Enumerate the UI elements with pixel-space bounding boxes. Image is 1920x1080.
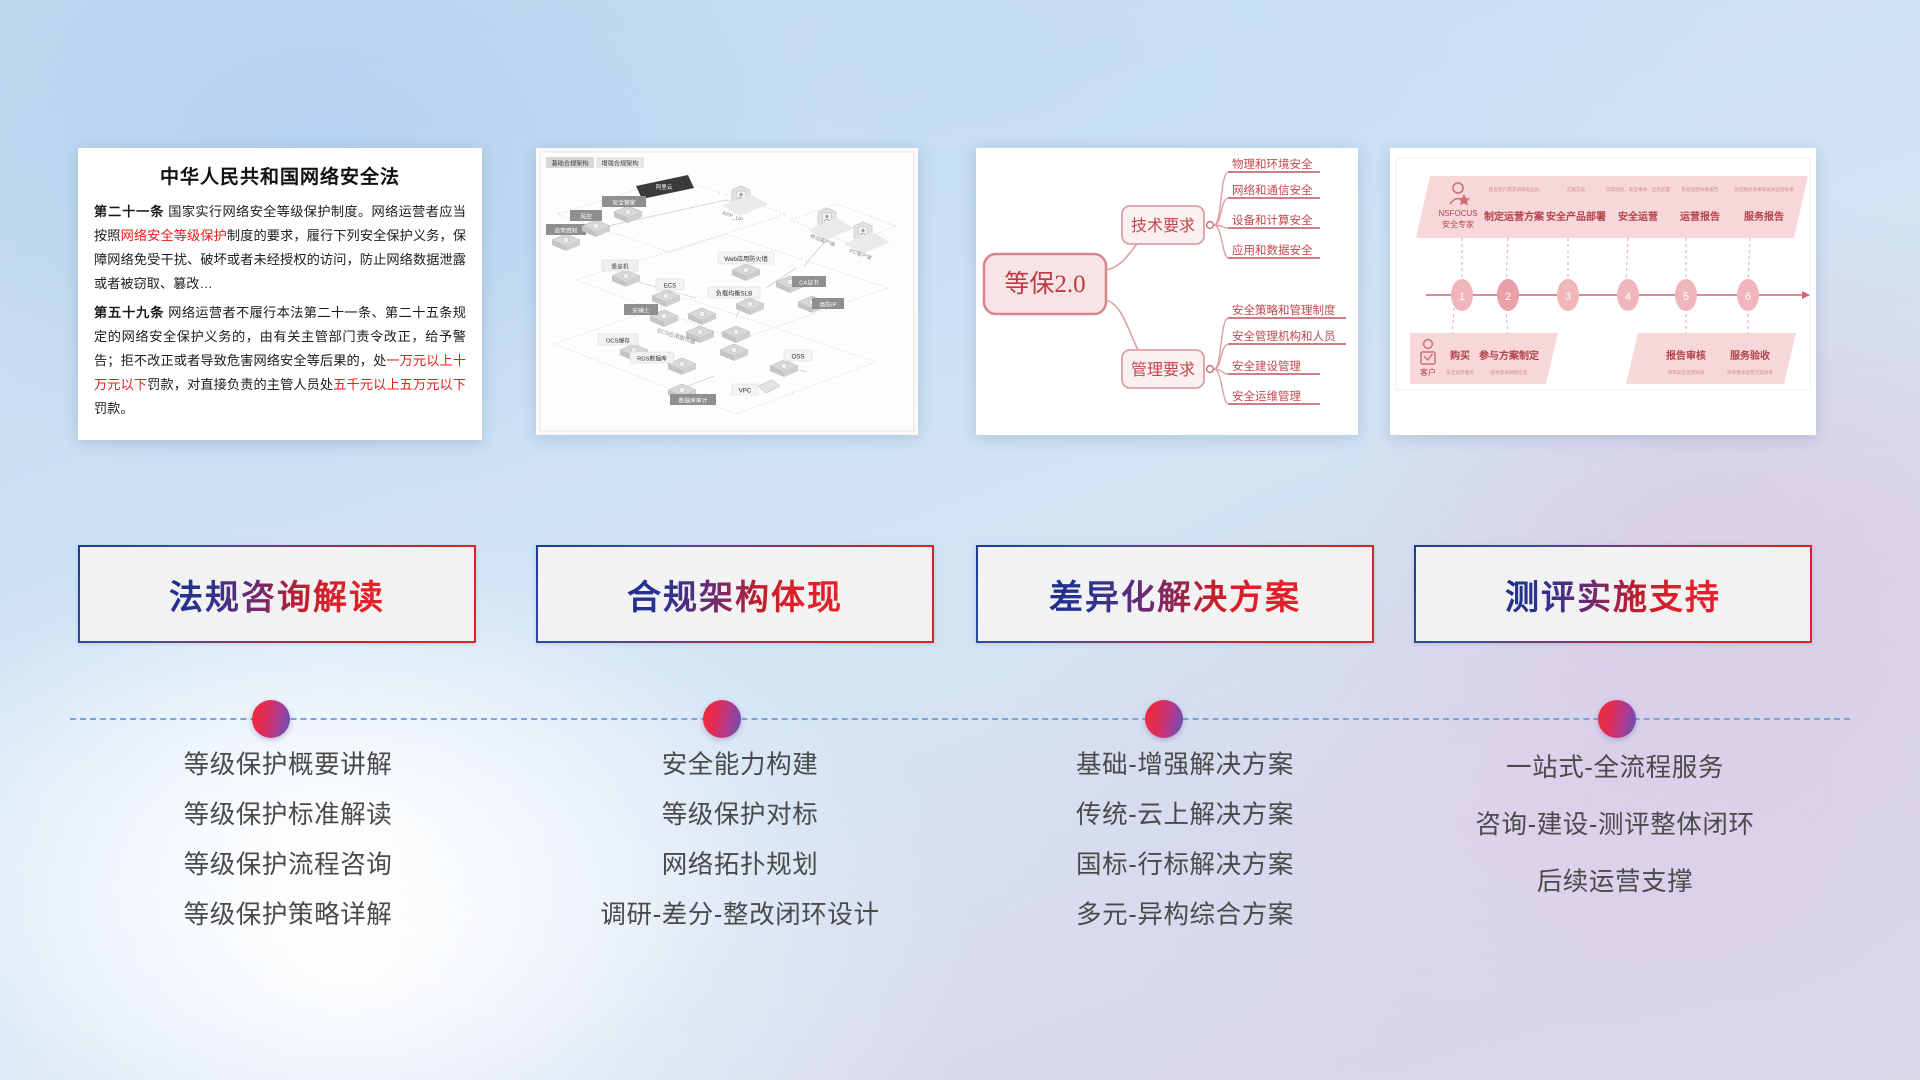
headline-2[interactable]: 合规架构体现: [536, 545, 934, 643]
svg-text:评审整体运营方案效果: 评审整体运营方案效果: [1727, 369, 1773, 376]
svg-text:运营报告: 运营报告: [1680, 210, 1720, 223]
svg-text:1: 1: [1459, 291, 1465, 303]
svg-text:服务报告: 服务报告: [1744, 210, 1784, 223]
headline-row: 法规咨询解读 合规架构体现 差异化解决方案 测评实施支持: [0, 545, 1920, 645]
article-59-run-3: 五千元以上五万元以下: [333, 377, 466, 392]
svg-text:VPC: VPC: [739, 388, 752, 395]
svg-text:堡垒机: 堡垒机: [611, 263, 629, 271]
law-document: 中华人民共和国网络安全法 第二十一条 国家实行网络安全等级保护制度。网络运营者应…: [78, 148, 482, 434]
svg-text:5: 5: [1683, 291, 1689, 303]
svg-text:评审安全运营效果: 评审安全运营效果: [1668, 369, 1705, 376]
svg-text:数据库审计: 数据库审计: [679, 397, 708, 405]
list-item: 基础-增强解决方案: [975, 740, 1395, 790]
svg-text:高防IP: 高防IP: [819, 301, 836, 309]
law-article-21: 第二十一条 国家实行网络安全等级保护制度。网络运营者应当按照网络安全等级保护制度…: [94, 200, 466, 296]
article-21-run-1: 网络安全等级保护: [121, 228, 227, 243]
svg-text:实施方案: 实施方案: [1567, 186, 1586, 193]
list-item: 调研-差分-整改闭环设计: [530, 890, 950, 940]
list-item: 安全能力构建: [530, 740, 950, 790]
svg-text:日常巡检、安全事件、应急处置: 日常巡检、安全事件、应急处置: [1606, 186, 1671, 193]
list-item: 等级保护标准解读: [78, 790, 498, 840]
svg-text:阶段运营效果报告: 阶段运营效果报告: [1682, 186, 1719, 193]
svg-text:风控: 风控: [580, 213, 592, 221]
svg-text:NSFOCUS: NSFOCUS: [1438, 209, 1477, 218]
article-number-21: 第二十一条: [94, 204, 164, 219]
service-timeline-card[interactable]: NSFOCUS 安全专家 结合客户需求调研后出具 制定运营方案 实施方案 安全产…: [1390, 148, 1816, 435]
svg-text:安骑士: 安骑士: [632, 307, 650, 315]
svg-text:物理和环境安全: 物理和环境安全: [1232, 157, 1313, 171]
feature-columns: 等级保护概要讲解 等级保护标准解读 等级保护流程咨询 等级保护策略详解 安全能力…: [0, 740, 1920, 980]
list-item: 等级保护策略详解: [78, 890, 498, 940]
column-4: 一站式-全流程服务 咨询-建设-测评整体闭环 后续运营支撑: [1400, 740, 1830, 911]
cybersecurity-law-card[interactable]: 中华人民共和国网络安全法 第二十一条 国家实行网络安全等级保护制度。网络运营者应…: [78, 148, 482, 440]
timeline-dot-2[interactable]: [703, 700, 741, 738]
svg-text:报告审核: 报告审核: [1666, 349, 1706, 362]
svg-text:3: 3: [1565, 291, 1571, 303]
headline-4-label: 测评实施支持: [1505, 570, 1721, 619]
list-item: 咨询-建设-测评整体闭环: [1400, 797, 1830, 854]
svg-text:2: 2: [1505, 291, 1511, 303]
svg-text:安全产品部署: 安全产品部署: [1546, 210, 1606, 223]
svg-text:管理要求: 管理要求: [1131, 361, 1195, 379]
column-3: 基础-增强解决方案 传统-云上解决方案 国标-行标解决方案 多元-异构综合方案: [975, 740, 1395, 940]
headline-3-label: 差异化解决方案: [1049, 570, 1301, 619]
list-item: 国标-行标解决方案: [975, 840, 1395, 890]
nsfocus-process-diagram: NSFOCUS 安全专家 结合客户需求调研后出具 制定运营方案 实施方案 安全产…: [1390, 148, 1816, 435]
svg-text:等保2.0: 等保2.0: [1004, 270, 1085, 298]
headline-3[interactable]: 差异化解决方案: [976, 545, 1374, 643]
law-title: 中华人民共和国网络安全法: [94, 162, 466, 189]
svg-text:基础合规架构: 基础合规架构: [551, 160, 588, 168]
svg-text:安全管理机构和人员: 安全管理机构和人员: [1232, 329, 1336, 343]
article-59-run-4: 罚款。: [94, 401, 134, 416]
card-row: 中华人民共和国网络安全法 第二十一条 国家实行网络安全等级保护制度。网络运营者应…: [0, 148, 1920, 448]
dengbao-mindmap: 等保2.0 技术要求 物理和环境安全 网络和通信安全 设备和计算安全 应用和数: [976, 148, 1358, 435]
svg-text:设备和计算安全: 设备和计算安全: [1232, 213, 1313, 227]
svg-text:应用和数据安全: 应用和数据安全: [1232, 243, 1313, 257]
timeline-dot-3[interactable]: [1145, 700, 1183, 738]
svg-text:阿里云: 阿里云: [656, 183, 673, 191]
article-number-59: 第五十九条: [94, 305, 164, 320]
svg-text:OCS缓存: OCS缓存: [606, 337, 630, 345]
list-item: 传统-云上解决方案: [975, 790, 1395, 840]
svg-text:技术要求: 技术要求: [1131, 217, 1195, 235]
svg-text:安全运营服务: 安全运营服务: [1446, 369, 1474, 376]
mindmap-card[interactable]: 等保2.0 技术要求 物理和环境安全 网络和通信安全 设备和计算安全 应用和数: [976, 148, 1358, 435]
headline-4[interactable]: 测评实施支持: [1414, 545, 1812, 643]
headline-1[interactable]: 法规咨询解读: [78, 545, 476, 643]
svg-text:制定运营方案: 制定运营方案: [1484, 210, 1545, 223]
svg-text:Web应用防火墙: Web应用防火墙: [724, 255, 768, 263]
timeline-dot-4[interactable]: [1598, 700, 1636, 738]
column-1: 等级保护概要讲解 等级保护标准解读 等级保护流程咨询 等级保护策略详解: [78, 740, 498, 940]
svg-text:安全管家: 安全管家: [612, 199, 635, 207]
svg-text:提供基本网络信息: 提供基本网络信息: [1491, 369, 1528, 376]
svg-text:安全策略和管理制度: 安全策略和管理制度: [1232, 303, 1336, 317]
article-59-run-2: 罚款，对直接负责的主管人员处: [147, 377, 333, 392]
svg-text:总结服务效果等总体运营效果: 总结服务效果等总体运营效果: [1734, 186, 1794, 193]
list-item: 网络拓扑规划: [530, 840, 950, 890]
cloud-architecture-card[interactable]: 基础合规架构 增强合规架构: [536, 148, 918, 435]
svg-text:安全建设管理: 安全建设管理: [1232, 359, 1301, 373]
headline-2-label: 合规架构体现: [627, 570, 843, 619]
list-item: 后续运营支撑: [1400, 854, 1830, 911]
svg-text:RDS数据库: RDS数据库: [637, 355, 667, 363]
svg-text:6: 6: [1745, 291, 1751, 303]
cloud-architecture-diagram: 基础合规架构 增强合规架构: [536, 148, 918, 435]
list-item: 等级保护流程咨询: [78, 840, 498, 890]
list-item: 等级保护对标: [530, 790, 950, 840]
svg-text:负载均衡SLB: 负载均衡SLB: [716, 290, 752, 298]
svg-text:安全专家: 安全专家: [1442, 219, 1474, 229]
list-item: 等级保护概要讲解: [78, 740, 498, 790]
svg-text:网络和通信安全: 网络和通信安全: [1232, 183, 1313, 197]
law-article-59: 第五十九条 网络运营者不履行本法第二十一条、第二十五条规定的网络安全保护义务的，…: [94, 301, 466, 421]
svg-text:态势感知: 态势感知: [554, 227, 577, 235]
svg-text:ECS: ECS: [664, 284, 676, 290]
list-item: 一站式-全流程服务: [1400, 740, 1830, 797]
timeline-dashed-line: [70, 718, 1850, 720]
svg-text:CA证书: CA证书: [799, 279, 819, 287]
svg-text:服务验收: 服务验收: [1730, 349, 1770, 362]
column-2: 安全能力构建 等级保护对标 网络拓扑规划 调研-差分-整改闭环设计: [530, 740, 950, 940]
svg-text:增强合规架构: 增强合规架构: [601, 160, 638, 168]
headline-1-label: 法规咨询解读: [169, 570, 385, 619]
svg-text:参与方案制定: 参与方案制定: [1479, 349, 1539, 362]
list-item: 多元-异构综合方案: [975, 890, 1395, 940]
svg-text:OSS: OSS: [791, 354, 804, 361]
svg-text:客户: 客户: [1420, 367, 1436, 377]
svg-text:安全运营: 安全运营: [1618, 210, 1658, 223]
svg-text:安全运维管理: 安全运维管理: [1232, 389, 1301, 403]
svg-text:购买: 购买: [1450, 349, 1470, 362]
svg-text:结合客户需求调研后出具: 结合客户需求调研后出具: [1489, 186, 1540, 193]
timeline-dot-1[interactable]: [252, 700, 290, 738]
svg-text:4: 4: [1625, 291, 1631, 303]
